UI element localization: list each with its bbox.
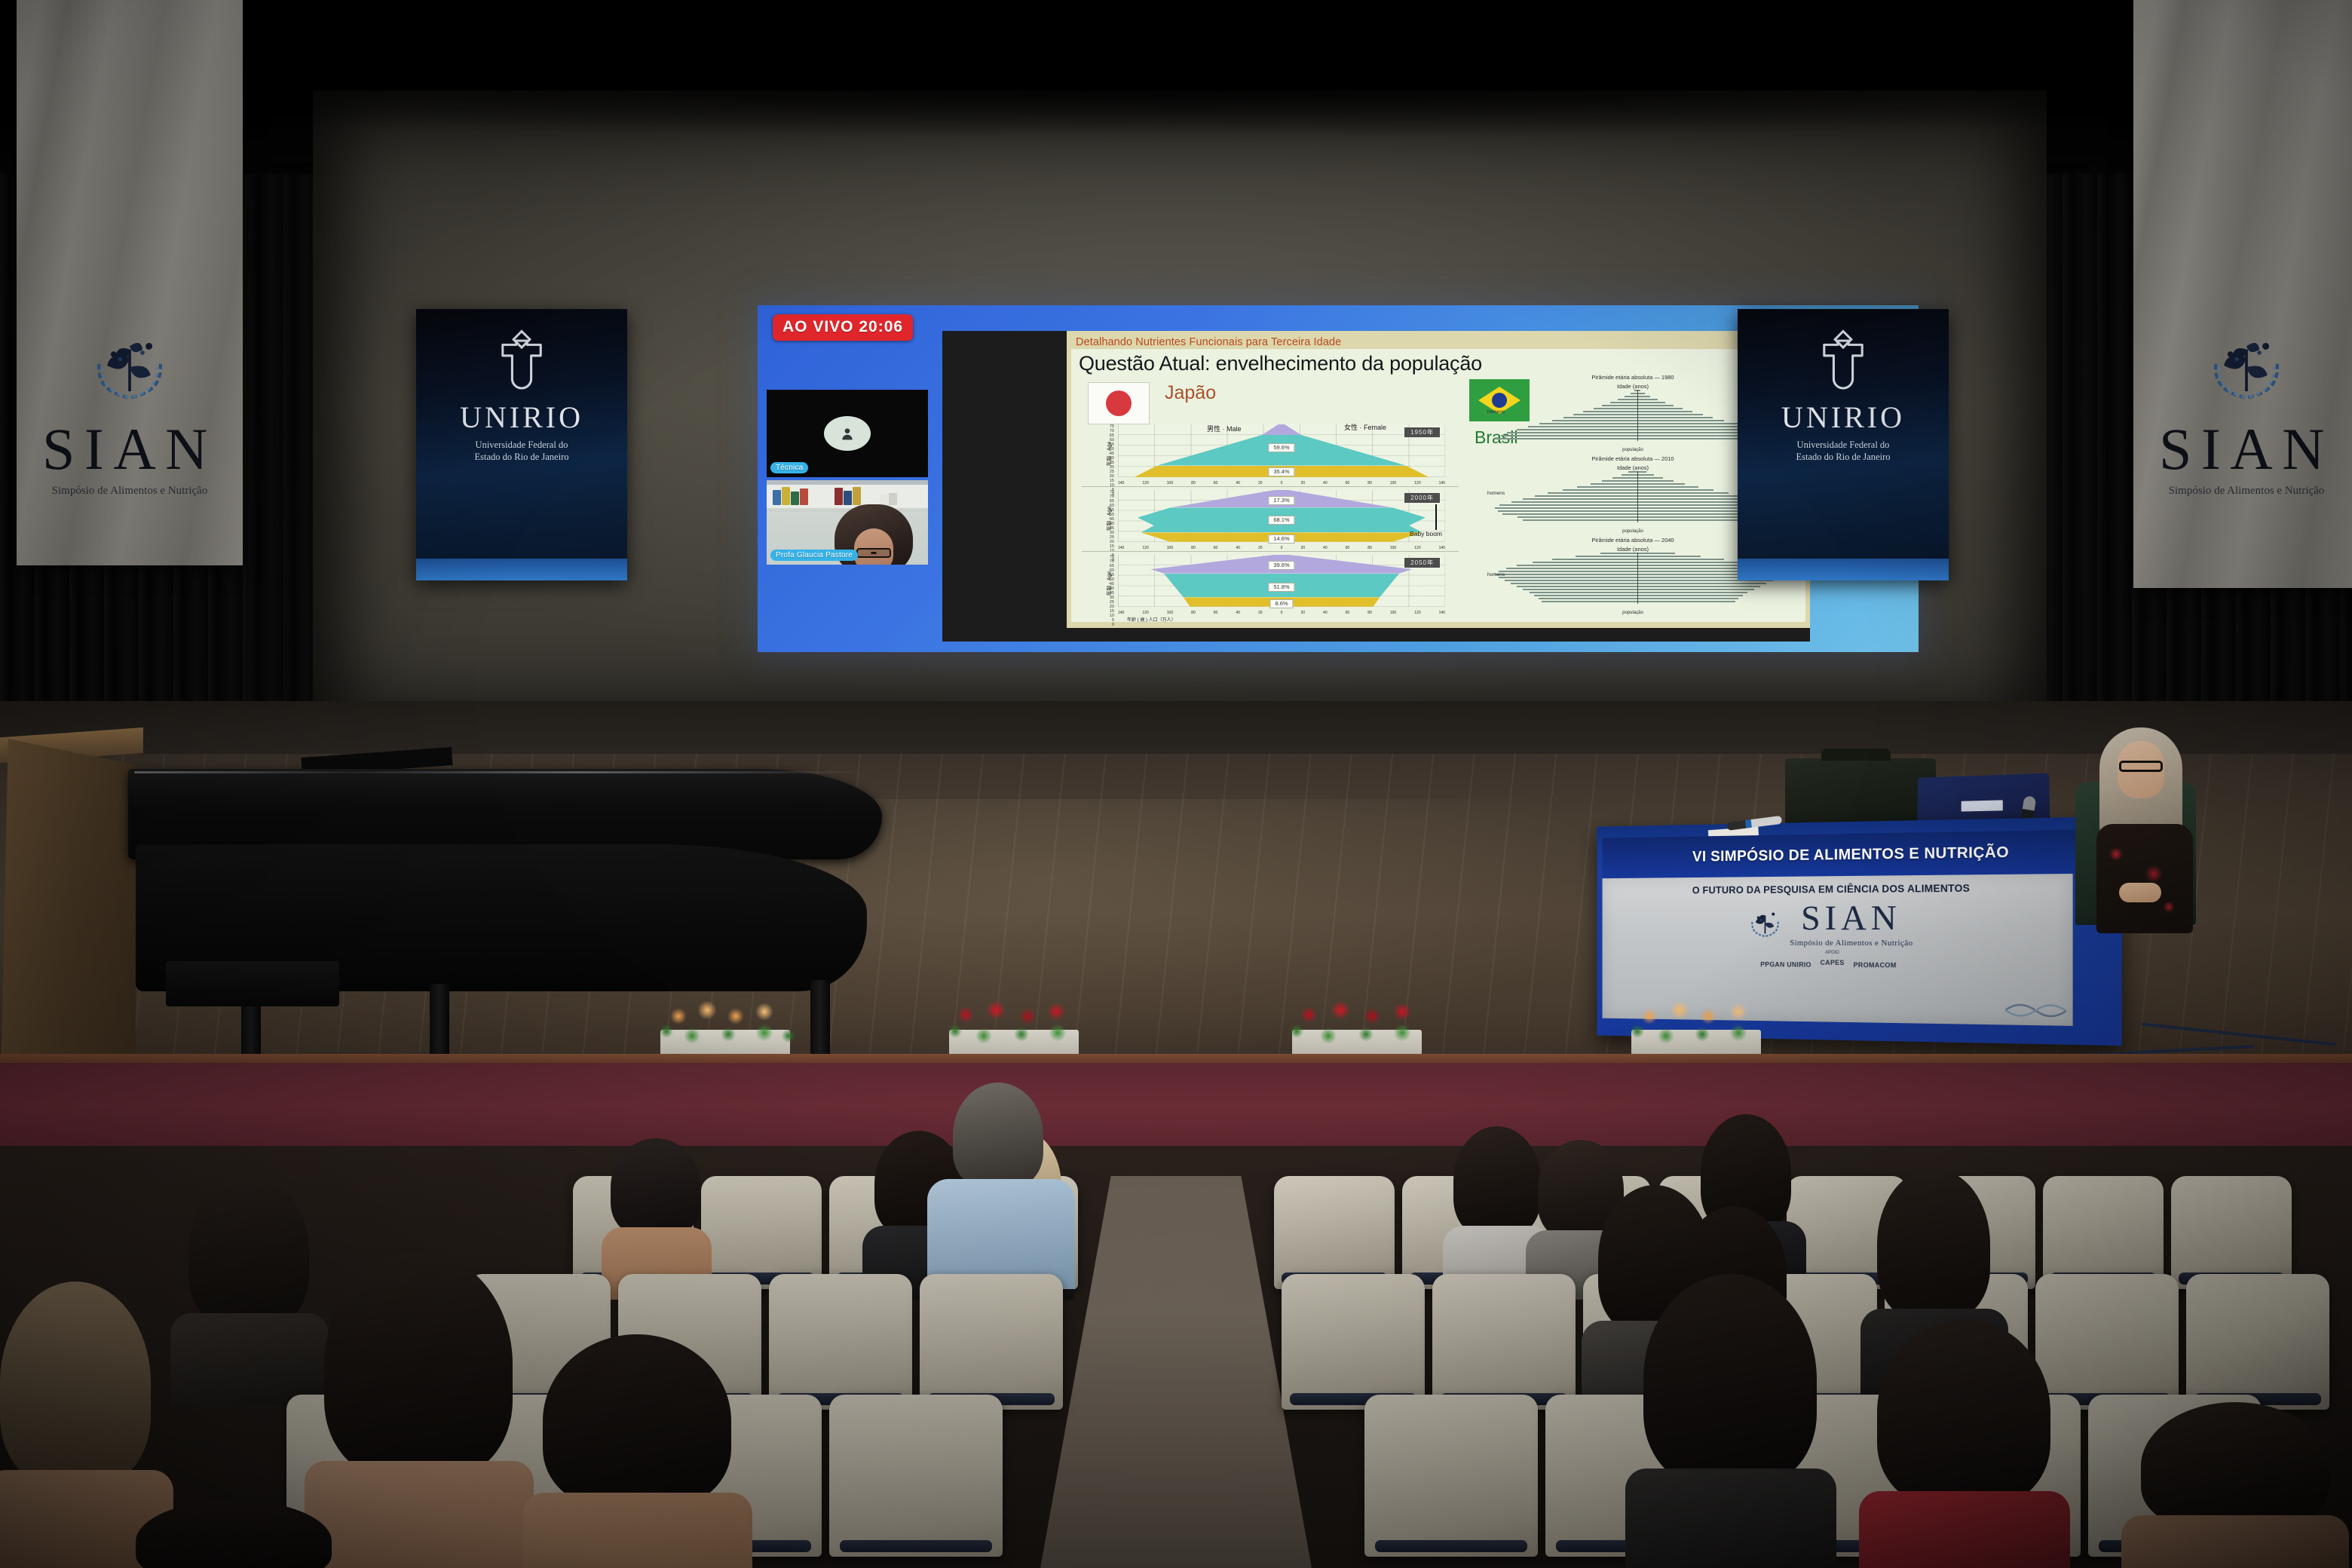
brazil-bar-right <box>1637 408 1683 409</box>
sian-banner-tagline: Simpósio de Alimentos e Nutrição <box>52 485 208 498</box>
brazil-bar-left <box>1523 519 1637 521</box>
japan-pct-mid-1950: 59.6% <box>1268 443 1294 452</box>
banner-unirio-left: UNIRIO Universidade Federal do Estado do… <box>416 309 627 580</box>
brazil-bar-left <box>1511 583 1637 584</box>
hair <box>324 1251 513 1478</box>
seat[interactable] <box>1364 1395 1538 1557</box>
shoulders <box>523 1493 752 1568</box>
hair <box>1643 1274 1817 1485</box>
audience-member <box>1643 1274 1817 1568</box>
japan-pyramid-1950: 757065605550454035302520151050 年齢 · Age … <box>1082 421 1459 486</box>
brazil-bar-left <box>1495 574 1637 575</box>
hair <box>136 1500 332 1568</box>
brazil-bar-left <box>1511 501 1637 503</box>
sponsor-promacom: PROMACOM <box>1854 961 1897 969</box>
brazil-bar-right <box>1637 489 1713 491</box>
sian-banner-tagline: Simpósio de Alimentos e Nutrição <box>2169 485 2325 498</box>
brazil-bar-right <box>1637 559 1724 560</box>
shoulders <box>2121 1515 2349 1568</box>
brazil-bar-left <box>1534 595 1637 596</box>
brazil-bar-left <box>1577 486 1637 488</box>
hair <box>2141 1402 2329 1530</box>
participant-tiles: Técnica <box>767 390 928 568</box>
brazil-bar-right <box>1637 480 1674 482</box>
brazil-bar-right <box>1637 426 1749 427</box>
speaker-glasses-icon <box>2119 761 2163 772</box>
seat[interactable] <box>2186 1274 2329 1410</box>
seat[interactable] <box>1282 1274 1425 1410</box>
brazil-bar-right <box>1637 589 1754 590</box>
japan-pct-old-2000: 17.3% <box>1268 496 1294 505</box>
japan-pct-young-2000: 14.6% <box>1268 534 1294 544</box>
brazil-bar-right <box>1637 495 1742 497</box>
laptop-label <box>1962 800 2003 811</box>
audience-member <box>611 1138 701 1289</box>
hair <box>188 1176 309 1327</box>
brazil-bar-left <box>1628 471 1637 473</box>
brazil-bar-right <box>1637 399 1658 400</box>
japan-pyramid-group: 757065605550454035302520151050 年齢 · Age … <box>1082 421 1459 616</box>
brazil-bar-left <box>1602 405 1637 406</box>
unirio-banner-line1: Universidade Federal do <box>1797 439 1890 452</box>
japan-plot-2050: 2050年 39.6% 51.8% 8.6% <box>1118 555 1445 607</box>
hair <box>543 1334 731 1508</box>
brazil-bar-left <box>1612 477 1637 479</box>
brazil-bar-right <box>1637 586 1760 587</box>
japan-label: Japão <box>1165 382 1216 404</box>
table-banner-title: VI SIMPÓSIO DE ALIMENTOS E NUTRIÇÃO <box>1692 844 2009 865</box>
brazil-bar-left <box>1539 423 1637 424</box>
brazil-bar-right <box>1637 414 1703 415</box>
japan-pyramid-shape-2050: 39.6% 51.8% 8.6% <box>1118 555 1445 607</box>
banner-unirio-right: UNIRIO Universidade Federal do Estado do… <box>1738 309 1949 580</box>
audience-member <box>324 1251 513 1568</box>
table-sian-logo-row: SIAN Simpósio de Alimentos e Nutrição <box>1603 896 2073 948</box>
live-badge: AO VIVO 20:06 <box>773 314 913 341</box>
webcam-speaker-face <box>854 528 893 565</box>
brazil-bar-left <box>1631 393 1637 394</box>
brazil-bar-right <box>1637 601 1735 602</box>
brazil-bar-left <box>1573 414 1637 415</box>
brazil-bar-left <box>1533 562 1637 563</box>
table-sian-text-block: SIAN Simpósio de Alimentos e Nutrição <box>1790 897 1913 948</box>
seated-speaker <box>2069 727 2213 931</box>
apoio-block: APOIO CAPES <box>1821 951 1845 969</box>
japan-pyramid-shape-1950: 59.6% 35.4% <box>1118 424 1445 477</box>
brazil-bar-left <box>1539 598 1637 599</box>
shoulders <box>927 1179 1075 1289</box>
table-sian-tagline: Simpósio de Alimentos e Nutrição <box>1790 939 1913 948</box>
brazil-bar-right <box>1637 474 1654 476</box>
unirio-banner-word: UNIRIO <box>1781 400 1905 435</box>
brazil-men-label: homens <box>1487 491 1505 496</box>
piano-bench <box>166 961 339 1006</box>
japan-plot-2000: 2000年 17.3% 68.1% 14.6% <box>1118 490 1445 542</box>
participant-name-chip: Técnica <box>770 462 808 473</box>
hair <box>1877 1319 2050 1506</box>
japan-plot-1950: 1950年 男性 · Male 女性 · Female 59.6% 35.4% <box>1118 424 1445 477</box>
japan-flag-icon <box>1088 382 1150 424</box>
brazil-bar-right <box>1637 583 1766 584</box>
brazil-bar-left <box>1594 408 1637 409</box>
brazil-bar-right <box>1637 498 1754 500</box>
avatar <box>824 416 871 451</box>
brazil-bar-right <box>1637 417 1713 418</box>
shoulders <box>170 1313 329 1405</box>
speaker-floral-dress <box>2096 824 2193 933</box>
brazil-bar-left <box>1622 474 1637 476</box>
auditorium-photo: AO VIVO 20:06 Desenvolvido por S StreamY… <box>0 0 2352 1568</box>
hair <box>611 1138 701 1236</box>
brazil-bar-left <box>1610 402 1637 403</box>
brazil-bar-left <box>1583 411 1637 412</box>
brazil-bar-left <box>1517 429 1637 430</box>
brazil-bar-left <box>1499 577 1638 578</box>
brazil-bar-right <box>1637 486 1698 488</box>
participant-name-chip: Profa Glaucia Pastore <box>770 550 858 561</box>
person-icon <box>840 426 855 441</box>
brazil-bar-right <box>1637 396 1650 397</box>
brazil-bar-right <box>1637 492 1729 494</box>
brazil-bar-left <box>1625 396 1637 397</box>
sian-logo-icon <box>1744 903 1785 942</box>
audience-member <box>1877 1319 2050 1568</box>
unirio-banner-line2: Estado do Rio de Janeiro <box>1796 452 1891 464</box>
sian-banner-word: SIAN <box>2159 415 2334 483</box>
hair <box>953 1083 1043 1188</box>
unirio-banner-word: UNIRIO <box>460 400 583 435</box>
table-sian-word: SIAN <box>1790 897 1913 939</box>
japan-axis-x-ticks: 14012010080604020020406080100120140 <box>1118 481 1445 485</box>
japan-axis-x-ticks: 14012010080604020020406080100120140 <box>1118 546 1445 550</box>
seat[interactable] <box>829 1395 1003 1557</box>
japan-pyramid-2050: 757065605550454035302520151050 年齢 · Age … <box>1082 551 1459 616</box>
brazil-bar-left <box>1530 592 1638 593</box>
brazil-bar-left <box>1528 426 1637 427</box>
brazil-bar-left <box>1542 601 1637 602</box>
brazil-bar-right <box>1637 423 1738 424</box>
dna-helix-icon <box>2004 998 2068 1022</box>
brazil-bar-left <box>1576 556 1637 557</box>
brazil-men-label: homens <box>1487 409 1505 415</box>
apoio-label: APOIO <box>1821 951 1845 955</box>
table-banner-subtitle: O FUTURO DA PESQUISA EM CIÊNCIA DOS ALIM… <box>1603 881 2073 896</box>
brazil-bar-left <box>1506 568 1637 569</box>
sponsor-capes: CAPES <box>1821 959 1845 966</box>
audience-member <box>136 1500 332 1568</box>
baby-boom-annotation: Baby boom <box>1410 530 1442 537</box>
brazil-bar-right <box>1637 402 1665 403</box>
brazil-bar-left <box>1501 435 1637 436</box>
unirio-logo-icon <box>488 327 556 395</box>
participant-tile-tecnica[interactable]: Técnica <box>767 390 928 477</box>
sponsor-ppgan-unirio: PPGAN UNIRIO <box>1760 960 1811 968</box>
japan-axis-x-ticks: 14012010080604020020406080100120140 <box>1118 611 1445 615</box>
audience-member <box>188 1176 309 1402</box>
brazil-bar-left <box>1499 571 1638 572</box>
brazil-bar-right <box>1637 471 1646 473</box>
japan-x-legend: 年齢 ( 歳 ) 人口（万人） <box>1127 616 1176 623</box>
brazil-bar-right <box>1637 595 1743 596</box>
japan-axis-y-label: 年齢 · Age <box>1105 442 1113 467</box>
banner-sian-right: SIAN Simpósio de Alimentos e Nutrição <box>2133 0 2352 588</box>
seat[interactable] <box>701 1176 822 1289</box>
brazil-bar-left <box>1499 504 1637 506</box>
brazil-bar-left <box>1548 492 1637 494</box>
brazil-bar-right <box>1637 598 1738 599</box>
unirio-banner-line2: Estado do Rio de Janeiro <box>475 452 569 464</box>
seat[interactable] <box>2043 1176 2164 1289</box>
shoulders <box>1859 1491 2070 1568</box>
brazil-bar-left <box>1495 507 1637 509</box>
brazil-bar-left <box>1552 559 1637 560</box>
participant-tile-speaker[interactable]: Profa Glaucia Pastore <box>767 480 928 565</box>
brazil-bar-left <box>1552 420 1637 421</box>
brazil-center-axis <box>1637 390 1638 441</box>
brazil-bar-right <box>1637 411 1692 412</box>
japan-pyramid-2000: 757065605550454035302520151050 年齢 · Age … <box>1082 486 1459 551</box>
seat[interactable] <box>2171 1176 2292 1289</box>
brazil-bar-right <box>1637 483 1685 485</box>
brazil-bar-right <box>1637 592 1747 593</box>
unirio-logo-icon <box>1809 327 1877 395</box>
brazil-x-label: população <box>1463 611 1802 615</box>
glasses-icon <box>856 548 891 558</box>
audience-member <box>543 1334 731 1568</box>
brazil-bar-right <box>1637 405 1674 406</box>
brazil-bar-left <box>1563 417 1637 418</box>
table-banner-title-band: VI SIMPÓSIO DE ALIMENTOS E NUTRIÇÃO <box>1603 829 2114 878</box>
japan-pyramid-shape-2000: 17.3% 68.1% 14.6% <box>1118 490 1445 542</box>
brazil-bar-left <box>1523 498 1637 500</box>
brazil-bar-right <box>1637 393 1645 394</box>
brazil-bar-left <box>1591 483 1637 485</box>
shoulders <box>305 1461 534 1568</box>
seat[interactable] <box>1274 1176 1395 1289</box>
brazil-bar-right <box>1637 556 1701 557</box>
audience-member <box>0 1282 151 1568</box>
brazil-bar-left <box>1498 510 1637 512</box>
unirio-banner-line1: Universidade Federal do <box>476 439 568 452</box>
hair <box>1877 1168 1990 1319</box>
brazil-bar-left <box>1563 489 1637 491</box>
banner-sian-left: SIAN Simpósio de Alimentos e Nutrição <box>17 0 243 565</box>
webcam-background-shelf <box>767 485 928 510</box>
audience-member <box>2141 1402 2329 1568</box>
brazil-bar-left <box>1618 399 1637 400</box>
brazil-bar-right <box>1637 477 1663 479</box>
brazil-bar-right <box>1637 519 1754 521</box>
brazil-bar-left <box>1600 553 1637 554</box>
sponsor-row: PPGAN UNIRIO APOIO CAPES PROMACOM <box>1603 950 2073 970</box>
slide-kicker: Detalhando Nutrientes Funcionais para Te… <box>1071 335 1805 351</box>
brazil-bar-left <box>1517 565 1637 566</box>
brazil-bar-left <box>1502 513 1637 515</box>
japan-pct-old-2050: 39.6% <box>1268 561 1294 570</box>
japan-axis-y-label: 年齢 · Age <box>1105 571 1113 596</box>
brazil-bar-left <box>1505 580 1637 581</box>
sian-logo-icon <box>81 322 178 411</box>
brazil-center-axis <box>1637 553 1638 604</box>
brazil-men-label: homens <box>1487 572 1505 577</box>
audience-member <box>945 1083 1051 1288</box>
brazil-bar-left <box>1517 586 1637 587</box>
brazil-center-axis <box>1637 471 1638 522</box>
seat[interactable] <box>2035 1274 2179 1410</box>
hair <box>1453 1126 1541 1236</box>
shoulders <box>1625 1468 1836 1568</box>
brazil-bar-left <box>1535 495 1637 497</box>
brazil-bar-left <box>1507 432 1638 433</box>
brazil-bar-right <box>1637 553 1675 554</box>
brazil-bar-left <box>1495 438 1637 439</box>
sian-banner-word: SIAN <box>42 415 217 483</box>
japan-pct-mid-2050: 51.8% <box>1268 583 1294 592</box>
brazil-bar-left <box>1523 589 1637 590</box>
brazil-bar-left <box>1517 516 1637 518</box>
hair <box>0 1282 151 1485</box>
sian-logo-icon <box>2198 322 2295 411</box>
japan-pct-mid-2000: 68.1% <box>1268 516 1294 525</box>
seat[interactable] <box>1432 1274 1576 1410</box>
brazil-bar-right <box>1637 562 1744 563</box>
seat[interactable] <box>769 1274 912 1410</box>
brazil-bar-right <box>1637 420 1724 421</box>
shared-screen-frame: Detalhando Nutrientes Funcionais para Te… <box>942 331 1810 642</box>
brazil-bar-left <box>1602 480 1637 482</box>
slide-body: Questão Atual: envelhecimento da populaç… <box>1071 349 1805 622</box>
presentation-slide: Detalhando Nutrientes Funcionais para Te… <box>1067 331 1810 628</box>
japan-pct-young-1950: 35.4% <box>1268 467 1294 476</box>
japan-pct-young-2050: 8.6% <box>1269 599 1293 608</box>
seat[interactable] <box>920 1274 1063 1410</box>
speaker-hands <box>2119 883 2161 902</box>
japan-axis-y-label: 年齢 · Age <box>1105 507 1113 531</box>
